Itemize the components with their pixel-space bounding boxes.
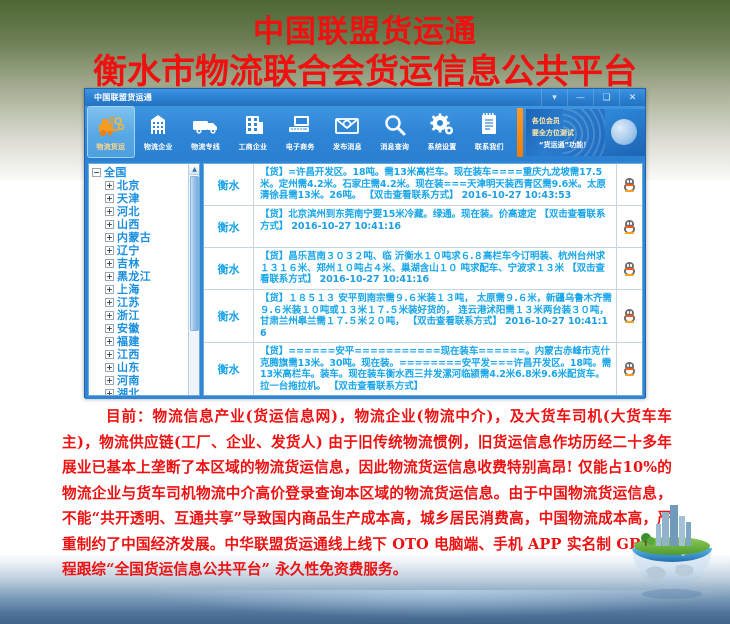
toolbar-item-system-settings[interactable]: 系统设置 [418,106,465,158]
member-notice-banner[interactable]: 各位会员 要全方位测试 “货运通”功能！ [526,109,605,156]
tree-expand-icon[interactable]: + [105,389,114,396]
scrollbar-thumb[interactable] [190,176,199,331]
tree-node-jiangsu[interactable]: + 江苏 [92,296,199,309]
window-title: 中国联盟货运通 [85,92,152,103]
toolbar-item-message-query[interactable]: 消息查询 [371,106,418,158]
toolbar-label: 发布消息 [333,142,362,152]
tree-node-label: 全国 [104,166,127,179]
qq-penguin-glyph [624,262,635,276]
tree-node-shanxi[interactable]: + 山西 [92,218,199,231]
truck-icon [186,109,226,141]
qq-icon[interactable] [616,206,642,247]
tree-node-jiangxi[interactable]: + 江西 [92,348,199,361]
toolbar-item-logistics-company[interactable]: 物流企业 [135,106,182,158]
tree-node-label: 湖北 [117,387,140,396]
toolbar-label: 物流专线 [191,142,220,152]
footer-glow [0,590,730,624]
qq-icon[interactable] [616,248,642,289]
row-message-text[interactable]: 【货】======安平===========现在装车======。内蒙古赤峰市克… [254,343,616,395]
toolbar-label: 消息查询 [380,142,409,152]
tree-node-label: 北京 [117,179,140,192]
region-tree-panel: − 全国 + 北京 + 天津 + 河北 + 山西 [88,163,200,396]
tree-node-label: 吉林 [117,257,140,270]
dropdown-icon[interactable]: ▾ [541,89,567,106]
tree-node-beijing[interactable]: + 北京 [92,179,199,192]
forklift-icon [91,109,131,141]
description-paragraph: 目前：物流信息产业(货运信息网)，物流企业(物流中介)，及大货车司机(大货车车主… [62,404,672,583]
row-message-text[interactable]: 【货】北京滨州到东莞南宁要15米冷藏。绿通。现在装。价高速定 【双击查看联系方式… [254,206,616,247]
tree-node-label: 河北 [117,205,140,218]
tree-node-tianjin[interactable]: + 天津 [92,192,199,205]
tree-node-label: 辽宁 [117,244,140,257]
tree-expand-icon[interactable]: + [105,207,114,216]
tree-node-label: 黑龙江 [117,270,151,283]
application-window: 中国联盟货运通 ▾ — ❑ ✕ 物流货运 [84,88,646,398]
message-body: 【货】昌乐莒南３０３２吨、临 沂衡水１０吨求６.８高栏车今订明装、杭州台州求１３… [260,251,605,285]
document-icon [469,109,509,141]
tree-node-national[interactable]: − 全国 [92,166,199,179]
building-icon [138,109,178,141]
office-icon [233,109,273,141]
tree-node-label: 江苏 [117,296,140,309]
page-title-primary: 中国联盟货运通 [0,14,730,50]
tree-node-shanghai[interactable]: + 上海 [92,283,199,296]
row-city-label: 衡水 [204,248,254,289]
tree-expand-icon[interactable]: + [105,194,114,203]
window-controls: ▾ — ❑ ✕ [541,89,645,106]
envelope-icon [327,109,367,141]
tree-expand-icon[interactable]: + [105,259,114,268]
tree-node-label: 安徽 [117,322,140,335]
qq-icon[interactable] [616,164,642,205]
tree-node-label: 山西 [117,218,140,231]
row-message-text[interactable]: 【货】=许昌开发区。18吨。需13米高栏车。现在装车====重庆九龙坡需17.5… [254,164,616,205]
toolbar-label: 物流货运 [96,142,125,152]
tree-node-label: 内蒙古 [117,231,151,244]
table-row[interactable]: 衡水 【货】１８５１３ 安平到南宗需９.６米装１３吨， 太原需９.６米，新疆乌鲁… [204,290,642,343]
banner-line-3: “货运通”功能！ [532,139,605,151]
toolbar-item-logistics-line[interactable]: 物流专线 [182,106,229,158]
tree-node-anhui[interactable]: + 安徽 [92,322,199,335]
tree-expand-icon[interactable]: + [105,337,114,346]
banner-line-1: 各位会员 [532,115,605,127]
qq-penguin-glyph [624,362,635,376]
toolbar-item-logistics-freight[interactable]: 物流货运 [87,106,135,158]
toolbar-label: 物流企业 [144,142,173,152]
toolbar-label: 电子商务 [286,142,315,152]
toolbar-item-publish-message[interactable]: 发布消息 [324,106,371,158]
qq-penguin-glyph [624,220,635,234]
table-row[interactable]: 衡水 【货】北京滨州到东莞南宁要15米冷藏。绿通。现在装。价高速定 【双击查看联… [204,206,642,248]
tree-node-heilongjiang[interactable]: + 黑龙江 [92,270,199,283]
toolbar-item-industrial-company[interactable]: 工商企业 [229,106,276,158]
page-headings: 中国联盟货运通 衡水市物流联合会货运信息公共平台 [0,14,730,92]
tree-expand-icon[interactable]: + [105,363,114,372]
minimize-icon[interactable]: — [567,89,593,106]
tree-expand-icon[interactable]: + [105,246,114,255]
freight-message-list[interactable]: 衡水 【货】=许昌开发区。18吨。需13米高栏车。现在装车====重庆九龙坡需1… [203,163,643,396]
row-city-label: 衡水 [204,164,254,205]
toolbar-item-contact-us[interactable]: 联系我们 [466,106,513,158]
qq-icon[interactable] [616,290,642,342]
toolbar-item-ecommerce[interactable]: 电子商务 [277,106,324,158]
window-titlebar: 中国联盟货运通 ▾ — ❑ ✕ [85,89,645,106]
table-row[interactable]: 衡水 【货】======安平===========现在装车======。内蒙古赤… [204,343,642,396]
message-timestamp: 2016-10-27 10:41:16 [291,221,400,232]
tree-node-label: 江西 [117,348,140,361]
tree-expand-icon[interactable]: + [105,376,114,385]
tree-scrollbar[interactable]: ▲ [188,164,199,395]
tree-node-label: 福建 [117,335,140,348]
tree-node-shandong[interactable]: + 山东 [92,361,199,374]
table-row[interactable]: 衡水 【货】昌乐莒南３０３２吨、临 沂衡水１０吨求６.８高栏车今订明装、杭州台州… [204,248,642,290]
message-body: 【货】======安平===========现在装车======。内蒙古赤峰市克… [260,346,611,392]
close-icon[interactable]: ✕ [619,89,645,106]
toolbar-label: 系统设置 [428,142,457,152]
tree-expand-icon[interactable]: + [105,285,114,294]
tree-node-label: 浙江 [117,309,140,322]
toolbar-divider [517,108,523,157]
computer-icon [280,109,320,141]
message-timestamp: 2016-10-27 10:41:16 [320,274,429,285]
tree-node-hebei[interactable]: + 河北 [92,205,199,218]
qq-penguin-glyph [624,309,635,323]
tree-expand-icon[interactable]: + [105,350,114,359]
qq-penguin-glyph [624,178,635,192]
tree-expand-icon[interactable]: + [105,272,114,281]
table-row[interactable]: 衡水 【货】=许昌开发区。18吨。需13米高栏车。现在装车====重庆九龙坡需1… [204,164,642,206]
row-city-label: 衡水 [204,206,254,247]
tree-node-henan[interactable]: + 河南 [92,374,199,387]
tree-expand-icon[interactable]: + [105,324,114,333]
tree-node-label: 上海 [117,283,140,296]
toolbar-label: 联系我们 [475,142,504,152]
banner-decoration [605,109,646,156]
tree-expand-icon[interactable]: + [105,233,114,242]
message-timestamp: 2016-10-27 10:43:53 [462,190,571,201]
row-message-text[interactable]: 【货】１８５１３ 安平到南宗需９.６米装１３吨， 太原需９.６米，新疆乌鲁木齐需… [254,290,616,342]
page-title-secondary: 衡水市物流联合会货运信息公共平台 [0,52,730,92]
tree-node-hubei[interactable]: + 湖北 [92,387,199,396]
row-message-text[interactable]: 【货】昌乐莒南３０３２吨、临 沂衡水１０吨求６.８高栏车今订明装、杭州台州求１３… [254,248,616,289]
tree-expand-icon[interactable]: + [105,181,114,190]
banner-line-2: 要全方位测试 [532,127,605,139]
main-toolbar: 物流货运 物流企业 [85,106,645,161]
tree-expand-icon[interactable]: + [105,311,114,320]
gear-icon [422,109,462,141]
scroll-up-icon[interactable]: ▲ [189,164,200,175]
tree-collapse-icon[interactable]: − [92,168,101,177]
tree-node-inner-mongolia[interactable]: + 内蒙古 [92,231,199,244]
tree-node-label: 天津 [117,192,140,205]
tree-node-liaoning[interactable]: + 辽宁 [92,244,199,257]
tree-node-fujian[interactable]: + 福建 [92,335,199,348]
tree-node-label: 河南 [117,374,140,387]
window-body: − 全国 + 北京 + 天津 + 河北 + 山西 [85,161,645,399]
region-tree: − 全国 + 北京 + 天津 + 河北 + 山西 [89,164,199,395]
row-city-label: 衡水 [204,343,254,395]
tree-node-zhejiang[interactable]: + 浙江 [92,309,199,322]
qq-icon[interactable] [616,343,642,395]
tree-node-jilin[interactable]: + 吉林 [92,257,199,270]
tree-expand-icon[interactable]: + [105,220,114,229]
tree-expand-icon[interactable]: + [105,298,114,307]
tree-node-label: 山东 [117,361,140,374]
toolbar-label: 工商企业 [238,142,267,152]
magnifier-icon [375,109,415,141]
row-city-label: 衡水 [204,290,254,342]
globe-earth-image [624,496,720,608]
maximize-icon[interactable]: ❑ [593,89,619,106]
